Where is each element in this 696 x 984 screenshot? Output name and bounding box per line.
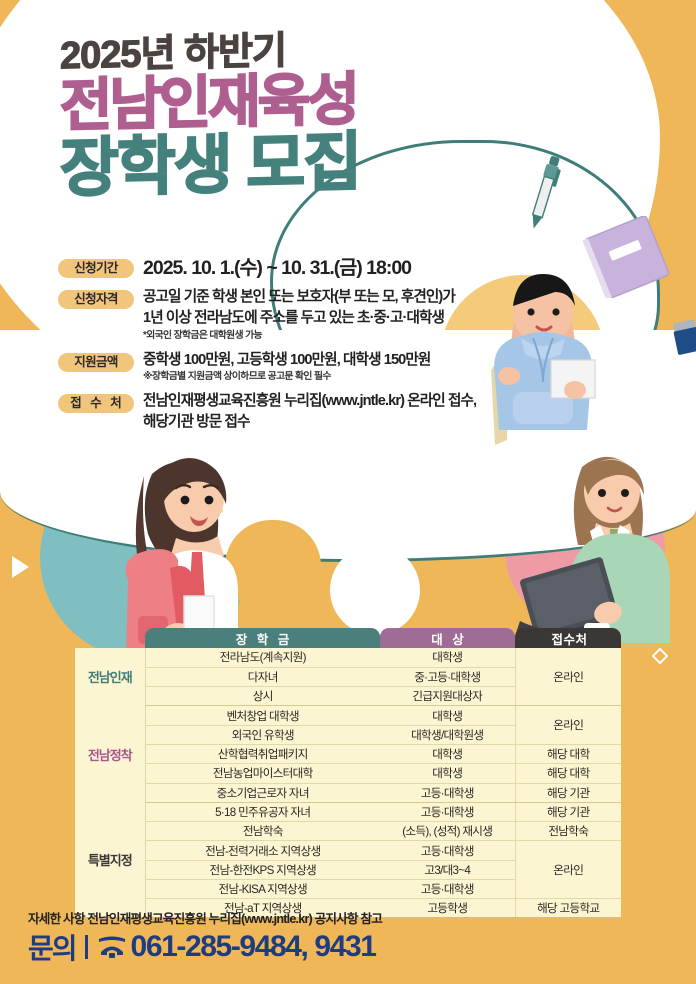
table-cell-application: 해당 기관 <box>515 783 621 802</box>
info-value-eligibility-2: 1년 이상 전라남도에 주소를 두고 있는 초·중·고·대학생 <box>143 308 478 329</box>
illustration-student-girl <box>66 430 286 660</box>
diamond-decoration-icon <box>652 648 669 665</box>
info-note-amount: ※장학금별 지원금액 상이하므로 공고문 확인 필수 <box>143 371 478 384</box>
table-row: 전남정착 벤처창업 대학생 대학생 온라인 <box>75 706 621 725</box>
table-cell-scholarship: 상시 <box>145 687 380 706</box>
info-note-eligibility: *외국인 장학금은 대학원생 가능 <box>143 330 478 343</box>
table-cell-target: 고등·대학생 <box>380 841 515 860</box>
table-cell-target: 긴급지원대상자 <box>380 687 515 706</box>
table-cell-scholarship: 전남-전력거래소 지역상생 <box>145 841 380 860</box>
table-header-application: 접수처 <box>515 628 621 648</box>
table-cell-application: 온라인 <box>515 648 621 706</box>
table-cell-scholarship: 산학협력취업패키지 <box>145 744 380 763</box>
eraser-icon <box>670 318 696 358</box>
info-label-eligibility: 신청자격 <box>58 290 134 309</box>
table-cell-category: 전남인재 <box>75 648 145 706</box>
table-row: 특별지정 5·18 민주유공자 자녀 고등·대학생 해당 기관 <box>75 802 621 821</box>
table-cell-target: 고등·대학생 <box>380 783 515 802</box>
poster-footer: 자세한 사항 전남인재평생교육진흥원 누리집(www.jntle.kr) 공지사… <box>0 902 696 984</box>
table-header-category <box>75 628 145 648</box>
footer-contact-label: 문의 <box>28 927 76 967</box>
pen-icon <box>524 152 564 234</box>
table-cell-category: 특별지정 <box>75 802 145 918</box>
info-value-eligibility-1: 공고일 기준 학생 본인 또는 보호자(부 또는 모, 후견인)가 <box>143 287 478 308</box>
table-cell-scholarship: 전남학숙 <box>145 822 380 841</box>
notebook-icon <box>582 216 678 298</box>
info-row-period: 신청기간 2025. 10. 1.(수) ~ 10. 31.(금) 18:00 <box>58 256 478 280</box>
table-cell-target: 고3/대3~4 <box>380 860 515 879</box>
table-cell-target: 대학생 <box>380 764 515 783</box>
illustration-student-laptop <box>496 445 696 645</box>
footer-divider <box>85 935 88 959</box>
info-value-application-1: 전남인재평생교육진흥원 누리집(www.jntle.kr) 온라인 접수, <box>143 391 478 412</box>
poster-root: 2025년 하반기 전남인재육성 장학생 모집 신청기간 20 <box>0 0 696 984</box>
info-row-amount: 지원금액 중학생 100만원, 고등학생 100만원, 대학생 150만원 ※장… <box>58 350 478 384</box>
table-header-scholarship: 장 학 금 <box>145 628 380 648</box>
table-cell-scholarship: 벤처창업 대학생 <box>145 706 380 725</box>
table-row: 전남인재 전라남도(계속지원) 대학생 온라인 <box>75 648 621 667</box>
info-label-period: 신청기간 <box>58 259 134 278</box>
table-header-row: 장 학 금 대 상 접수처 <box>75 628 621 648</box>
table-cell-target: 대학생 <box>380 706 515 725</box>
table-cell-target: 대학생 <box>380 744 515 763</box>
table-cell-application: 해당 대학 <box>515 744 621 763</box>
table-cell-target: 대학생/대학원생 <box>380 725 515 744</box>
table-cell-scholarship: 중소기업근로자 자녀 <box>145 783 380 802</box>
info-row-eligibility: 신청자격 공고일 기준 학생 본인 또는 보호자(부 또는 모, 후견인)가 1… <box>58 287 478 342</box>
table-cell-application: 전남학숙 <box>515 822 621 841</box>
table-cell-application: 온라인 <box>515 706 621 745</box>
info-label-amount: 지원금액 <box>58 353 134 372</box>
table-row: 산학협력취업패키지 대학생 해당 대학 <box>75 744 621 763</box>
table-cell-scholarship: 외국인 유학생 <box>145 725 380 744</box>
telephone-icon <box>97 934 127 960</box>
info-row-application: 접 수 처 전남인재평생교육진흥원 누리집(www.jntle.kr) 온라인 … <box>58 391 478 432</box>
info-value-amount: 중학생 100만원, 고등학생 100만원, 대학생 150만원 <box>143 350 478 371</box>
table-row: 전남학숙 (소득), (성적) 재시생 전남학숙 <box>75 822 621 841</box>
burst-notch-b <box>330 545 420 635</box>
table-cell-target: 고등·대학생 <box>380 880 515 899</box>
table-cell-target: 대학생 <box>380 648 515 667</box>
info-value-period: 2025. 10. 1.(수) ~ 10. 31.(금) 18:00 <box>143 256 478 280</box>
table-cell-category: 전남정착 <box>75 706 145 802</box>
table-cell-target: 고등·대학생 <box>380 802 515 821</box>
table-cell-scholarship: 전남-KISA 지역상생 <box>145 880 380 899</box>
footer-phone-number[interactable]: 061-285-9484, 9431 <box>131 930 376 964</box>
table-cell-application: 해당 기관 <box>515 802 621 821</box>
info-label-application: 접 수 처 <box>58 394 134 413</box>
table-row: 중소기업근로자 자녀 고등·대학생 해당 기관 <box>75 783 621 802</box>
table-cell-application: 해당 대학 <box>515 764 621 783</box>
table-row: 전남-전력거래소 지역상생 고등·대학생 온라인 <box>75 841 621 860</box>
footer-note: 자세한 사항 전남인재평생교육진흥원 누리집(www.jntle.kr) 공지사… <box>28 908 382 927</box>
footer-contact: 문의 061-285-9484, 9431 <box>28 927 376 967</box>
table-cell-target: 중·고등·대학생 <box>380 667 515 686</box>
table-cell-scholarship: 전남-한전KPS 지역상생 <box>145 860 380 879</box>
scholarship-table: 장 학 금 대 상 접수처 전남인재 전라남도(계속지원) 대학생 온라인 다자… <box>75 628 621 920</box>
info-value-application-2: 해당기관 방문 접수 <box>143 412 478 433</box>
table-cell-scholarship: 5·18 민주유공자 자녀 <box>145 802 380 821</box>
triangle-decoration-icon <box>12 556 29 578</box>
table-cell-scholarship: 다자녀 <box>145 667 380 686</box>
title-line-main: 장학생 모집 <box>60 128 360 202</box>
table-cell-application: 온라인 <box>515 841 621 899</box>
table-row: 전남농업마이스터대학 대학생 해당 대학 <box>75 764 621 783</box>
info-block: 신청기간 2025. 10. 1.(수) ~ 10. 31.(금) 18:00 … <box>58 256 478 439</box>
poster-title: 2025년 하반기 전남인재육성 장학생 모집 <box>60 34 360 199</box>
table-cell-target: (소득), (성적) 재시생 <box>380 822 515 841</box>
table-cell-scholarship: 전라남도(계속지원) <box>145 648 380 667</box>
table-cell-scholarship: 전남농업마이스터대학 <box>145 764 380 783</box>
table-header-target: 대 상 <box>380 628 515 648</box>
